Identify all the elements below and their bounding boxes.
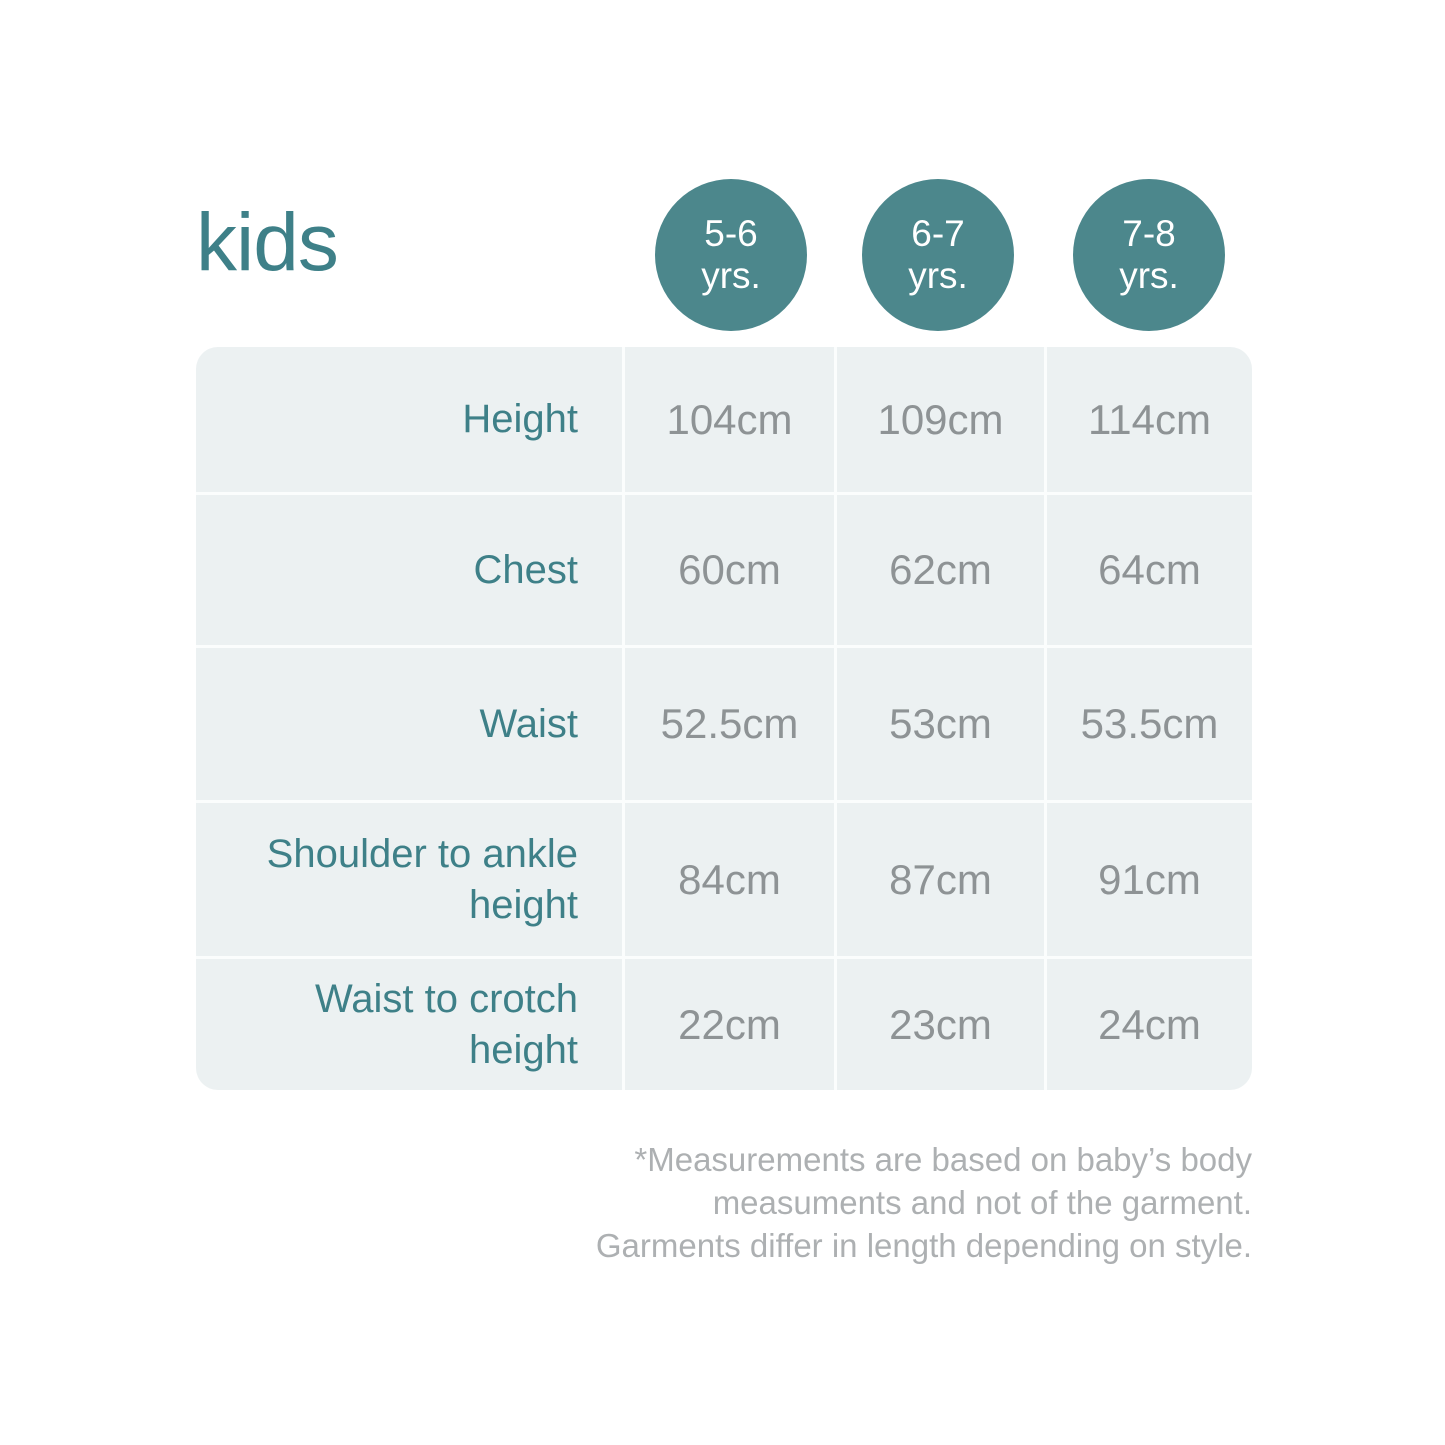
measurement-value: 84cm	[622, 803, 834, 956]
page-title: kids	[196, 198, 338, 288]
table-row: Waist to crotch height 22cm 23cm 24cm	[196, 959, 1252, 1090]
size-circle-range: 6-7	[911, 213, 964, 255]
size-circle-unit: yrs.	[701, 255, 761, 297]
measurement-label: Waist	[196, 699, 622, 750]
table-row: Shoulder to ankle height 84cm 87cm 91cm	[196, 803, 1252, 959]
footnote-line: Garments differ in length depending on s…	[452, 1224, 1252, 1267]
measurement-value: 109cm	[834, 347, 1044, 492]
measurement-value: 53cm	[834, 648, 1044, 800]
size-circle-5-6-yrs: 5-6 yrs.	[655, 179, 807, 331]
measurement-value: 62cm	[834, 495, 1044, 645]
size-circle-range: 7-8	[1122, 213, 1175, 255]
size-circle-6-7-yrs: 6-7 yrs.	[862, 179, 1014, 331]
footnote-line: *Measurements are based on baby’s body	[452, 1138, 1252, 1181]
size-chart-root: kids 5-6 yrs. 6-7 yrs. 7-8 yrs. Height 1…	[0, 0, 1445, 1445]
measurement-value: 104cm	[622, 347, 834, 492]
measurements-table: Height 104cm 109cm 114cm Chest 60cm 62cm…	[196, 347, 1252, 1090]
measurement-label-line: Shoulder to ankle	[196, 829, 578, 880]
size-circle-unit: yrs.	[1119, 255, 1179, 297]
table-row: Chest 60cm 62cm 64cm	[196, 495, 1252, 648]
measurement-value: 53.5cm	[1044, 648, 1252, 800]
measurement-label: Height	[196, 394, 622, 445]
footnote: *Measurements are based on baby’s body m…	[452, 1138, 1252, 1267]
table-row: Height 104cm 109cm 114cm	[196, 347, 1252, 495]
size-circle-unit: yrs.	[908, 255, 968, 297]
size-circle-range: 5-6	[704, 213, 757, 255]
measurement-label-line: Height	[462, 397, 578, 441]
measurement-label-line: height	[196, 880, 578, 931]
measurement-label: Waist to crotch height	[196, 974, 622, 1076]
measurement-value: 24cm	[1044, 959, 1252, 1090]
measurement-value: 52.5cm	[622, 648, 834, 800]
measurement-value: 114cm	[1044, 347, 1252, 492]
measurement-label-line: Waist to crotch	[196, 974, 578, 1025]
table-row: Waist 52.5cm 53cm 53.5cm	[196, 648, 1252, 803]
measurement-label: Chest	[196, 545, 622, 596]
measurement-value: 64cm	[1044, 495, 1252, 645]
measurement-label: Shoulder to ankle height	[196, 829, 622, 931]
measurement-value: 60cm	[622, 495, 834, 645]
measurement-label-line: Waist	[479, 702, 578, 746]
size-circle-7-8-yrs: 7-8 yrs.	[1073, 179, 1225, 331]
measurement-value: 91cm	[1044, 803, 1252, 956]
measurement-value: 23cm	[834, 959, 1044, 1090]
measurement-label-line: Chest	[474, 548, 579, 592]
footnote-line: measuments and not of the garment.	[452, 1181, 1252, 1224]
measurement-label-line: height	[196, 1025, 578, 1076]
measurement-value: 87cm	[834, 803, 1044, 956]
size-header-circles: 5-6 yrs. 6-7 yrs. 7-8 yrs.	[622, 179, 1252, 339]
measurement-value: 22cm	[622, 959, 834, 1090]
